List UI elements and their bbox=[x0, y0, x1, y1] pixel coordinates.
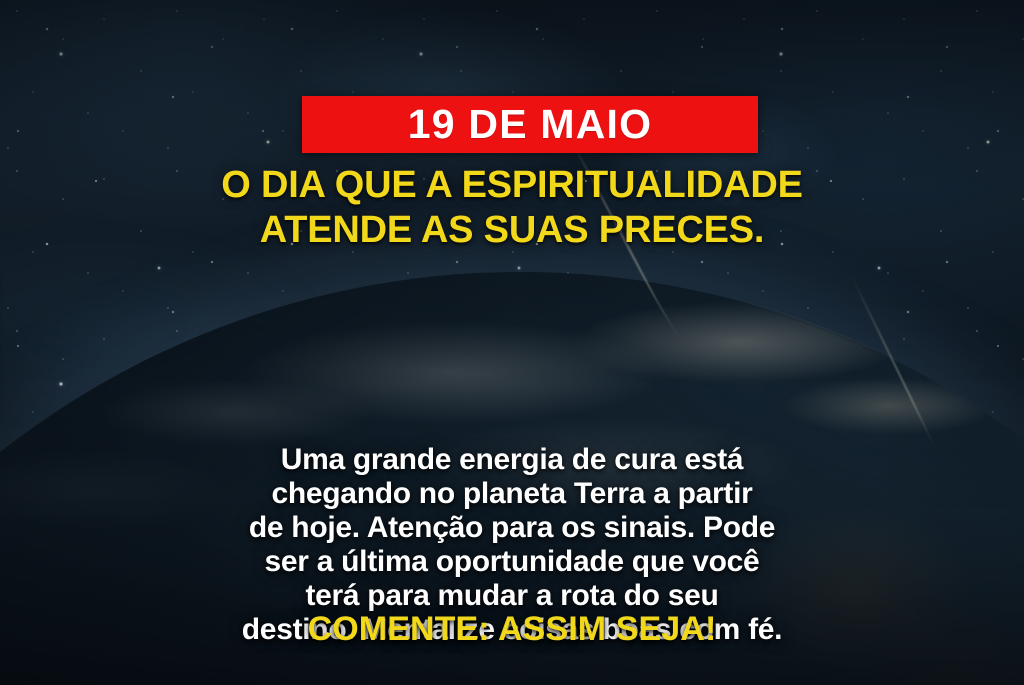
date-banner: 19 DE MAIO bbox=[302, 96, 758, 153]
headline-line-2: ATENDE AS SUAS PRECES. bbox=[40, 208, 984, 253]
headline: O DIA QUE A ESPIRITUALIDADE ATENDE AS SU… bbox=[0, 163, 1024, 253]
call-to-action-label: COMENTE: ASSIM SEJA! bbox=[308, 610, 717, 648]
body-line-3: de hoje. Atenção para os sinais. Pode bbox=[54, 511, 970, 545]
call-to-action: COMENTE: ASSIM SEJA! bbox=[0, 612, 1024, 646]
date-banner-label: 19 DE MAIO bbox=[408, 104, 652, 145]
body-line-5: terá para mudar a rota do seu bbox=[54, 579, 970, 613]
body-line-1: Uma grande energia de cura está bbox=[54, 443, 970, 477]
body-line-4: ser a última oportunidade que você bbox=[54, 545, 970, 579]
poster-content: 19 DE MAIO O DIA QUE A ESPIRITUALIDADE A… bbox=[0, 0, 1024, 685]
headline-line-1: O DIA QUE A ESPIRITUALIDADE bbox=[40, 163, 984, 208]
body-line-2: chegando no planeta Terra a partir bbox=[54, 477, 970, 511]
poster-canvas: 19 DE MAIO O DIA QUE A ESPIRITUALIDADE A… bbox=[0, 0, 1024, 685]
